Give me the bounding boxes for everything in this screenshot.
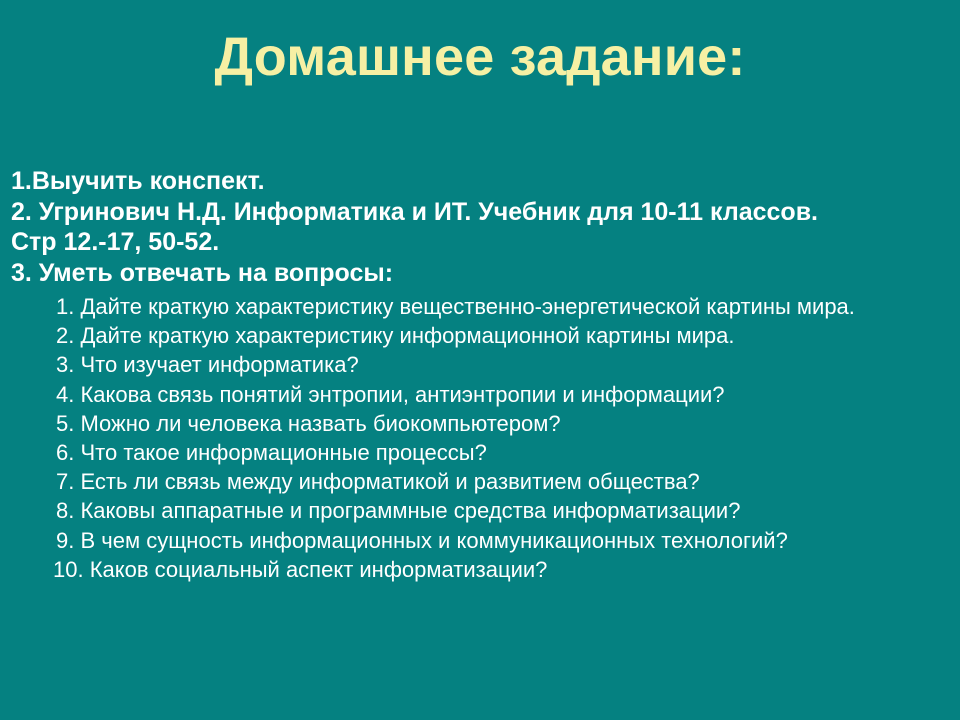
- question-number: 2.: [56, 323, 74, 348]
- question-text: Какова связь понятий энтропии, антиэнтро…: [80, 382, 724, 407]
- question-item: 3. Что изучает информатика?: [56, 350, 956, 379]
- homework-main-list: 1.Выучить конспект. 2. Угринович Н.Д. Ин…: [11, 166, 949, 288]
- question-text: Дайте краткую характеристику вещественно…: [80, 294, 854, 319]
- question-text: Каковы аппаратные и программные средства…: [80, 498, 740, 523]
- question-number: 5.: [56, 411, 74, 436]
- question-text: Можно ли человека назвать биокомпьютером…: [80, 411, 560, 436]
- question-item: 8. Каковы аппаратные и программные средс…: [56, 496, 956, 525]
- question-number: 9.: [56, 528, 74, 553]
- question-text: Дайте краткую характеристику информацион…: [80, 323, 734, 348]
- main-list-item-2: 2. Угринович Н.Д. Информатика и ИТ. Учеб…: [11, 197, 949, 228]
- questions-list: 1. Дайте краткую характеристику веществе…: [56, 292, 956, 584]
- question-item: 9. В чем сущность информационных и комму…: [56, 526, 956, 555]
- question-item: 7. Есть ли связь между информатикой и ра…: [56, 467, 956, 496]
- question-item: 10. Каков социальный аспект информатизац…: [53, 555, 956, 584]
- question-number: 4.: [56, 382, 74, 407]
- main-list-item-1: 1.Выучить конспект.: [11, 166, 949, 197]
- question-item: 5. Можно ли человека назвать биокомпьюте…: [56, 409, 956, 438]
- main-list-item-pages: Стр 12.-17, 50-52.: [11, 227, 949, 258]
- main-list-item-3: 3. Уметь отвечать на вопросы:: [11, 258, 949, 289]
- question-number: 7.: [56, 469, 74, 494]
- page-title: Домашнее задание:: [0, 26, 960, 88]
- question-number: 1.: [56, 294, 74, 319]
- presentation-slide: Домашнее задание: 1.Выучить конспект. 2.…: [0, 0, 960, 720]
- question-item: 6. Что такое информационные процессы?: [56, 438, 956, 467]
- question-item: 4. Какова связь понятий энтропии, антиэн…: [56, 380, 956, 409]
- question-item: 2. Дайте краткую характеристику информац…: [56, 321, 956, 350]
- question-text: Каков социальный аспект информатизации?: [90, 557, 548, 582]
- question-text: В чем сущность информационных и коммуник…: [80, 528, 787, 553]
- question-item: 1. Дайте краткую характеристику веществе…: [56, 292, 956, 321]
- question-number: 8.: [56, 498, 74, 523]
- question-number: 6.: [56, 440, 74, 465]
- question-number: 10.: [53, 557, 84, 582]
- question-number: 3.: [56, 352, 74, 377]
- question-text: Что изучает информатика?: [80, 352, 358, 377]
- question-text: Что такое информационные процессы?: [80, 440, 486, 465]
- question-text: Есть ли связь между информатикой и разви…: [80, 469, 699, 494]
